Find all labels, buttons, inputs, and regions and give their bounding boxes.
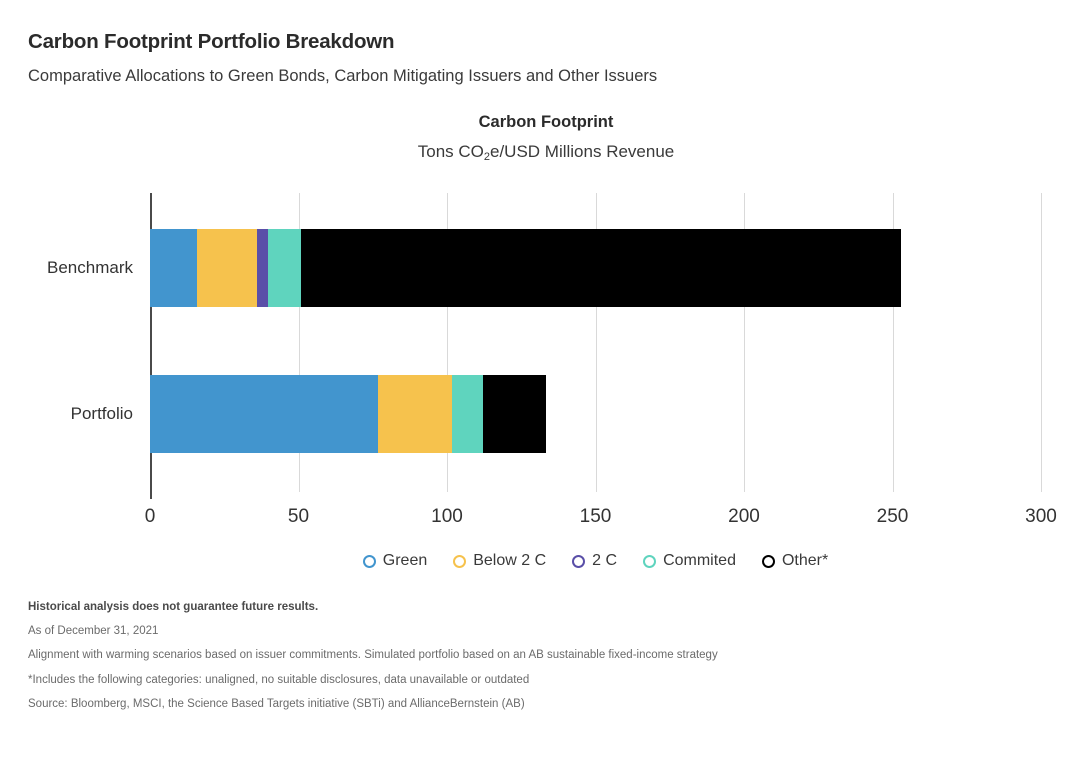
footnotes-block: Historical analysis does not guarantee f… — [28, 601, 1058, 722]
bar-portfolio[interactable] — [150, 375, 546, 453]
legend-label: Green — [383, 552, 427, 570]
y-axis-label-portfolio: Portfolio — [0, 404, 144, 424]
page-header: Carbon Footprint Portfolio Breakdown Com… — [28, 30, 1058, 86]
x-axis-tick — [150, 492, 152, 499]
x-axis-label: 250 — [877, 506, 909, 528]
legend-label: Commited — [663, 552, 736, 570]
bar-segment-green[interactable] — [150, 229, 197, 307]
y-axis-label-benchmark: Benchmark — [0, 258, 144, 278]
chart-title-block: Carbon Footprint Tons CO2e/USD Millions … — [150, 112, 942, 162]
gridline — [1041, 193, 1042, 492]
legend-circle-icon — [453, 555, 466, 568]
chart-subtitle-prefix: Tons CO — [418, 142, 484, 161]
gridline — [299, 193, 300, 492]
bar-segment-below-2-c[interactable] — [197, 229, 257, 307]
chart-title: Carbon Footprint — [150, 112, 942, 133]
legend-circle-icon — [643, 555, 656, 568]
footnote: *Includes the following categories: unal… — [28, 674, 1058, 687]
footnote: As of December 31, 2021 — [28, 625, 1058, 638]
chart-subtitle-suffix: e/USD Millions Revenue — [490, 142, 674, 161]
chart-subtitle: Tons CO2e/USD Millions Revenue — [150, 141, 942, 162]
legend-item-2-c[interactable]: 2 C — [572, 552, 617, 570]
gridline — [596, 193, 597, 492]
legend-item-green[interactable]: Green — [363, 552, 427, 570]
plot-area — [150, 193, 1041, 492]
legend-label: Below 2 C — [473, 552, 546, 570]
gridline — [447, 193, 448, 492]
bar-segment-green[interactable] — [150, 375, 378, 453]
bar-segment-commited[interactable] — [452, 375, 483, 453]
gridline — [893, 193, 894, 492]
chart-subtitle-subscript: 2 — [484, 151, 490, 163]
legend-label: Other* — [782, 552, 828, 570]
legend-item-other[interactable]: Other* — [762, 552, 828, 570]
x-axis-label: 50 — [288, 506, 309, 528]
page-subtitle: Comparative Allocations to Green Bonds, … — [28, 67, 1058, 87]
legend-label: 2 C — [592, 552, 617, 570]
bar-benchmark[interactable] — [150, 229, 901, 307]
chart-legend: GreenBelow 2 C2 CCommitedOther* — [150, 552, 1041, 570]
bar-segment-other[interactable] — [301, 229, 902, 307]
page-title: Carbon Footprint Portfolio Breakdown — [28, 30, 1058, 55]
legend-circle-icon — [572, 555, 585, 568]
bar-segment-other[interactable] — [483, 375, 546, 453]
bar-segment-commited[interactable] — [268, 229, 301, 307]
bar-segment-below-2-c[interactable] — [378, 375, 452, 453]
footnote: Source: Bloomberg, MSCI, the Science Bas… — [28, 698, 1058, 711]
gridline — [744, 193, 745, 492]
x-axis-label: 200 — [728, 506, 760, 528]
legend-circle-icon — [363, 555, 376, 568]
y-axis-line — [150, 193, 152, 492]
footnote-disclaimer: Historical analysis does not guarantee f… — [28, 601, 1058, 614]
legend-item-below-2-c[interactable]: Below 2 C — [453, 552, 546, 570]
x-axis-label: 0 — [145, 506, 156, 528]
x-axis-label: 300 — [1025, 506, 1057, 528]
x-axis-label: 100 — [431, 506, 463, 528]
legend-circle-icon — [762, 555, 775, 568]
legend-item-commited[interactable]: Commited — [643, 552, 736, 570]
bar-segment-2-c[interactable] — [257, 229, 268, 307]
x-axis-label: 150 — [580, 506, 612, 528]
footnote: Alignment with warming scenarios based o… — [28, 649, 1058, 662]
